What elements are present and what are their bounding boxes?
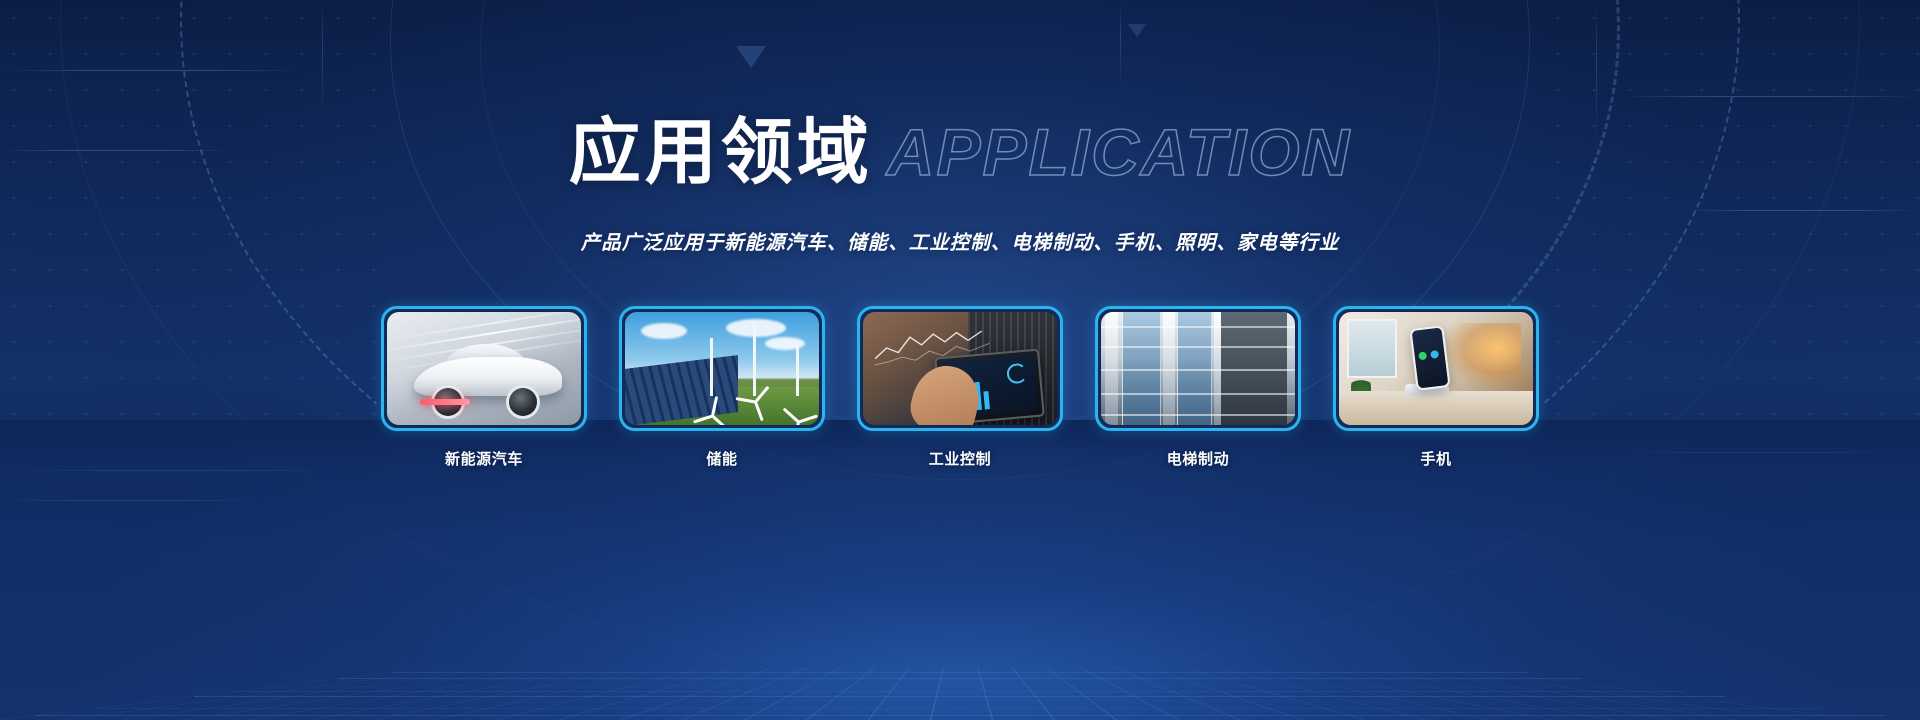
page-title-english: APPLICATION (887, 119, 1351, 185)
application-card-industrial-control[interactable]: 工业控制 (857, 306, 1063, 469)
card-frame[interactable] (1333, 306, 1539, 431)
card-frame[interactable] (857, 306, 1063, 431)
application-card-energy-storage[interactable]: 储能 (619, 306, 825, 469)
application-banner: 应用领域 APPLICATION 产品广泛应用于新能源汽车、储能、工业控制、电梯… (0, 0, 1920, 720)
industrial-control-image (863, 312, 1057, 425)
application-card-mobile-phone[interactable]: 手机 (1333, 306, 1539, 469)
card-label: 工业控制 (857, 448, 1063, 469)
mobile-phone-image (1339, 312, 1533, 425)
banner-subtitle: 产品广泛应用于新能源汽车、储能、工业控制、电梯制动、手机、照明、家电等行业 (0, 226, 1920, 255)
application-card-ev[interactable]: 新能源汽车 (381, 306, 587, 469)
card-label: 电梯制动 (1095, 448, 1301, 469)
energy-storage-image (625, 312, 819, 425)
elevator-braking-image (1101, 312, 1295, 425)
card-label: 新能源汽车 (381, 448, 587, 469)
card-label: 手机 (1333, 448, 1539, 469)
card-frame[interactable] (381, 306, 587, 431)
page-title: 应用领域 (569, 116, 873, 188)
banner-heading: 应用领域 APPLICATION (0, 116, 1920, 188)
card-frame[interactable] (619, 306, 825, 431)
application-card-elevator[interactable]: 电梯制动 (1095, 306, 1301, 469)
card-frame[interactable] (1095, 306, 1301, 431)
ev-car-image (387, 312, 581, 425)
application-card-list: 新能源汽车 (0, 306, 1920, 469)
card-label: 储能 (619, 448, 825, 469)
